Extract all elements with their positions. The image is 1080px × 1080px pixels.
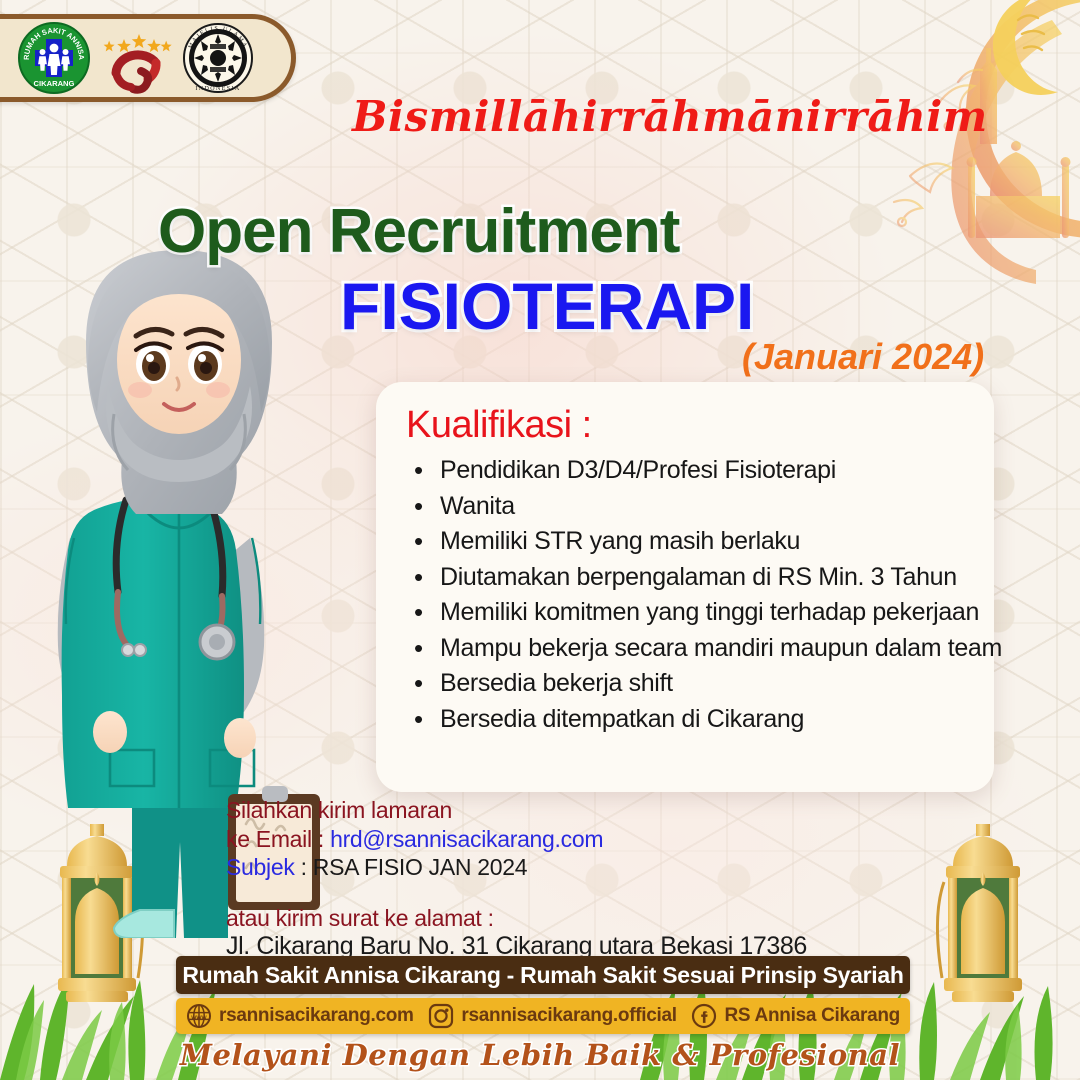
globe-icon: www: [186, 1003, 212, 1029]
facebook-icon: [691, 1003, 717, 1029]
qualifications-heading: Kualifikasi :: [406, 404, 964, 447]
website-entry[interactable]: www rsannisacikarang.com: [186, 1003, 414, 1029]
email-label: ke Email :: [226, 826, 330, 852]
svg-text:www: www: [190, 1014, 207, 1021]
instagram-entry[interactable]: rsannisacikarang.official: [428, 1003, 676, 1029]
list-item: Mampu bekerja secara mandiri maupun dala…: [406, 631, 964, 667]
list-item: Memiliki komitmen yang tinggi terhadap p…: [406, 595, 964, 631]
svg-text:CIKARANG: CIKARANG: [34, 79, 75, 88]
facebook-entry[interactable]: RS Annisa Cikarang: [691, 1003, 900, 1029]
application-instruction: Silahkan kirim lamaran: [226, 796, 807, 825]
contact-block: Silahkan kirim lamaran ke Email : hrd@rs…: [226, 796, 807, 961]
list-item: Bersedia bekerja shift: [406, 666, 964, 702]
rs-annisa-cikarang-logo: RUMAH SAKIT ANNISA CIKARANG: [17, 21, 91, 95]
list-item: Memiliki STR yang masih berlaku: [406, 524, 964, 560]
website-label: rsannisacikarang.com: [219, 1005, 414, 1027]
contact-spacer: [226, 882, 807, 904]
address-label: atau kirim surat ke alamat :: [226, 904, 807, 933]
list-item: Pendidikan D3/D4/Profesi Fisioterapi: [406, 453, 964, 489]
list-item: Diutamakan berpengalaman di RS Min. 3 Ta…: [406, 560, 964, 596]
tagline-text: Melayani Dengan Lebih Baik & Profesional: [0, 1038, 1080, 1072]
recruitment-poster: RUMAH SAKIT ANNISA CIKARANG: [0, 0, 1080, 1080]
akreditasi-bintang-logo: [99, 21, 173, 95]
facebook-label: RS Annisa Cikarang: [724, 1005, 900, 1027]
ramadan-lantern-right-icon: [918, 822, 1048, 1022]
footer-banner: Rumah Sakit Annisa Cikarang - Rumah Saki…: [176, 956, 910, 994]
qualifications-card: Kualifikasi : Pendidikan D3/D4/Profesi F…: [376, 382, 994, 792]
subject-value: : RSA FISIO JAN 2024: [295, 854, 528, 880]
email-value[interactable]: hrd@rsannisacikarang.com: [330, 826, 603, 852]
footer-social-bar: www rsannisacikarang.com rsannisacikaran…: [176, 998, 910, 1034]
period-label: (Januari 2024): [742, 336, 984, 378]
svg-text:INDONESIA: INDONESIA: [195, 86, 240, 92]
accreditation-logo-bar: RUMAH SAKIT ANNISA CIKARANG: [0, 14, 296, 102]
qualifications-list: Pendidikan D3/D4/Profesi Fisioterapi Wan…: [406, 453, 964, 737]
instagram-icon: [428, 1003, 454, 1029]
bismillah-text: Bismillāhirrāhmānirrāhim: [352, 92, 988, 141]
majelis-ulama-indonesia-logo: MAJELIS ULAMA INDONESIA: [181, 21, 255, 95]
instagram-label: rsannisacikarang.official: [461, 1005, 676, 1027]
position-title: FISIOTERAPI: [340, 268, 754, 344]
list-item: Bersedia ditempatkan di Cikarang: [406, 702, 964, 738]
page-title: Open Recruitment: [158, 196, 679, 267]
list-item: Wanita: [406, 489, 964, 525]
subject-label: Subjek: [226, 854, 295, 880]
